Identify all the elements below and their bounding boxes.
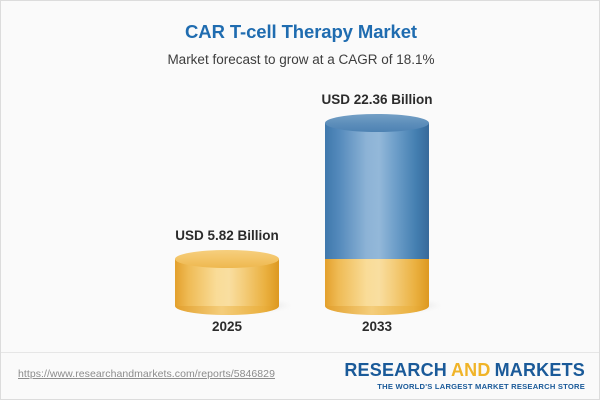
cylinder-body-growth-2033 bbox=[325, 123, 429, 259]
cylinder-body-2033 bbox=[325, 259, 429, 306]
report-url-link[interactable]: https://www.researchandmarkets.com/repor… bbox=[18, 368, 275, 380]
research-and-markets-logo[interactable]: RESEARCHANDMARKETS THE WORLD'S LARGEST M… bbox=[344, 361, 585, 391]
cylinder-segment-growth-2033 bbox=[325, 123, 429, 259]
plot-area: USD 5.82 Billion USD 22.36 Billion bbox=[1, 1, 600, 353]
logo-text-markets: MARKETS bbox=[495, 360, 585, 380]
cylinder-top-2025 bbox=[175, 250, 279, 268]
logo-wordmark: RESEARCHANDMARKETS bbox=[344, 361, 585, 380]
cylinder-top-2033 bbox=[325, 114, 429, 132]
cylinder-segment-base-2033 bbox=[325, 259, 429, 306]
cylinder-2025[interactable] bbox=[175, 259, 279, 306]
cylinder-2033[interactable] bbox=[325, 123, 429, 306]
chart-card: CAR T-cell Therapy Market Market forecas… bbox=[0, 0, 600, 400]
category-label-2033: 2033 bbox=[325, 319, 429, 334]
category-label-2025: 2025 bbox=[175, 319, 279, 334]
chart-footer: https://www.researchandmarkets.com/repor… bbox=[1, 352, 600, 399]
logo-text-research: RESEARCH bbox=[344, 360, 447, 380]
logo-tagline: THE WORLD'S LARGEST MARKET RESEARCH STOR… bbox=[344, 382, 585, 391]
logo-text-and: AND bbox=[451, 360, 491, 380]
cylinder-segment-base-2025 bbox=[175, 259, 279, 306]
value-label-2025: USD 5.82 Billion bbox=[175, 228, 279, 243]
value-label-2033: USD 22.36 Billion bbox=[321, 92, 432, 107]
